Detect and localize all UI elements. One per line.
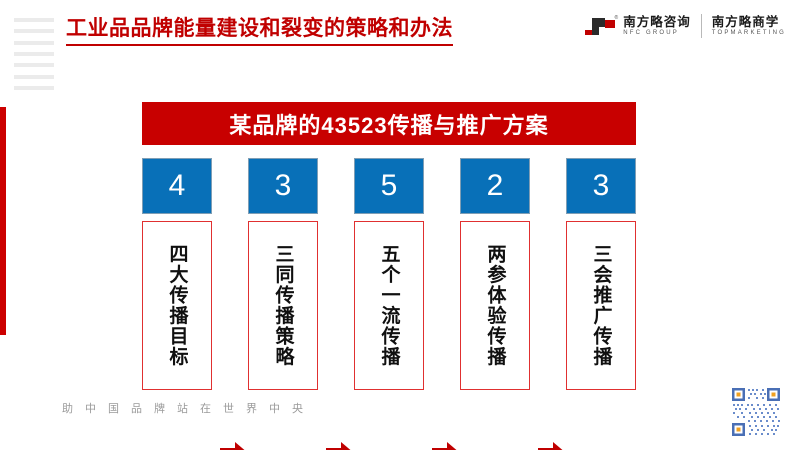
qr-code[interactable] [726, 382, 786, 442]
scheme-banner-text: 某品牌的43523传播与推广方案 [229, 108, 548, 140]
page-title: 工业品品牌能量建设和裂变的策略和办法 [66, 16, 453, 46]
hatch-line [14, 18, 54, 22]
left-accent-bar [0, 107, 6, 335]
logo-secondary-en: TOPMARKETING [712, 30, 786, 36]
hatch-line [14, 63, 54, 67]
flow-step-4-number: 2 [460, 158, 530, 214]
hatch-line [14, 52, 54, 56]
flow-step-1-number: 4 [142, 158, 212, 214]
flow-step-1-box: 四大传播目标 [142, 221, 212, 390]
hatch-line [14, 29, 54, 33]
flow-step-4-label: 两参体验传播 [486, 244, 505, 367]
flow-step-2[interactable]: 3 三同传播策略 [248, 158, 318, 390]
flow-step-4[interactable]: 2 两参体验传播 [460, 158, 530, 390]
logo-secondary-cn: 南方略商学 [712, 16, 786, 29]
decorative-hatch-lines [14, 18, 54, 90]
flow-step-5[interactable]: 3 三会推广传播 [566, 158, 636, 390]
logo-secondary-text: 南方略商学 TOPMARKETING [712, 16, 786, 36]
slide-root: 工业品品牌能量建设和裂变的策略和办法 ® 南方略咨询 NFC GROUP 南方略… [0, 0, 800, 450]
logo-mark-icon: ® [585, 18, 615, 35]
flow-arrow-2-icon [326, 440, 354, 450]
flow-step-5-number: 3 [566, 158, 636, 214]
flow-step-2-box: 三同传播策略 [248, 221, 318, 390]
logo-primary-text: 南方略咨询 NFC GROUP [623, 16, 691, 36]
scheme-banner: 某品牌的43523传播与推广方案 [142, 102, 636, 145]
footer-tagline: 助中国品牌站在世界中央 [62, 400, 315, 416]
hatch-line [14, 75, 54, 79]
flow-step-1[interactable]: 4 四大传播目标 [142, 158, 212, 390]
flow-step-3-number: 5 [354, 158, 424, 214]
hatch-line [14, 86, 54, 90]
logo-primary-en: NFC GROUP [623, 30, 691, 36]
hatch-line [14, 41, 54, 45]
brand-logo: ® 南方略咨询 NFC GROUP 南方略商学 TOPMARKETING [585, 14, 786, 38]
flow-step-3[interactable]: 5 五个一流传播 [354, 158, 424, 390]
flow-step-3-box: 五个一流传播 [354, 221, 424, 390]
flow-diagram: 4 四大传播目标 3 三同传播策略 5 五个一流传播 [142, 158, 636, 390]
logo-divider [701, 14, 702, 38]
flow-arrow-1-icon [220, 440, 248, 450]
registered-mark: ® [615, 15, 619, 21]
flow-arrow-3-icon [432, 440, 460, 450]
flow-step-3-label: 五个一流传播 [380, 244, 399, 367]
logo-primary-cn: 南方略咨询 [623, 16, 691, 29]
flow-step-5-label: 三会推广传播 [592, 244, 611, 367]
flow-step-4-box: 两参体验传播 [460, 221, 530, 390]
flow-step-2-label: 三同传播策略 [274, 244, 293, 367]
flow-arrow-4-icon [538, 440, 566, 450]
flow-step-5-box: 三会推广传播 [566, 221, 636, 390]
flow-step-2-number: 3 [248, 158, 318, 214]
flow-step-1-label: 四大传播目标 [168, 244, 187, 367]
